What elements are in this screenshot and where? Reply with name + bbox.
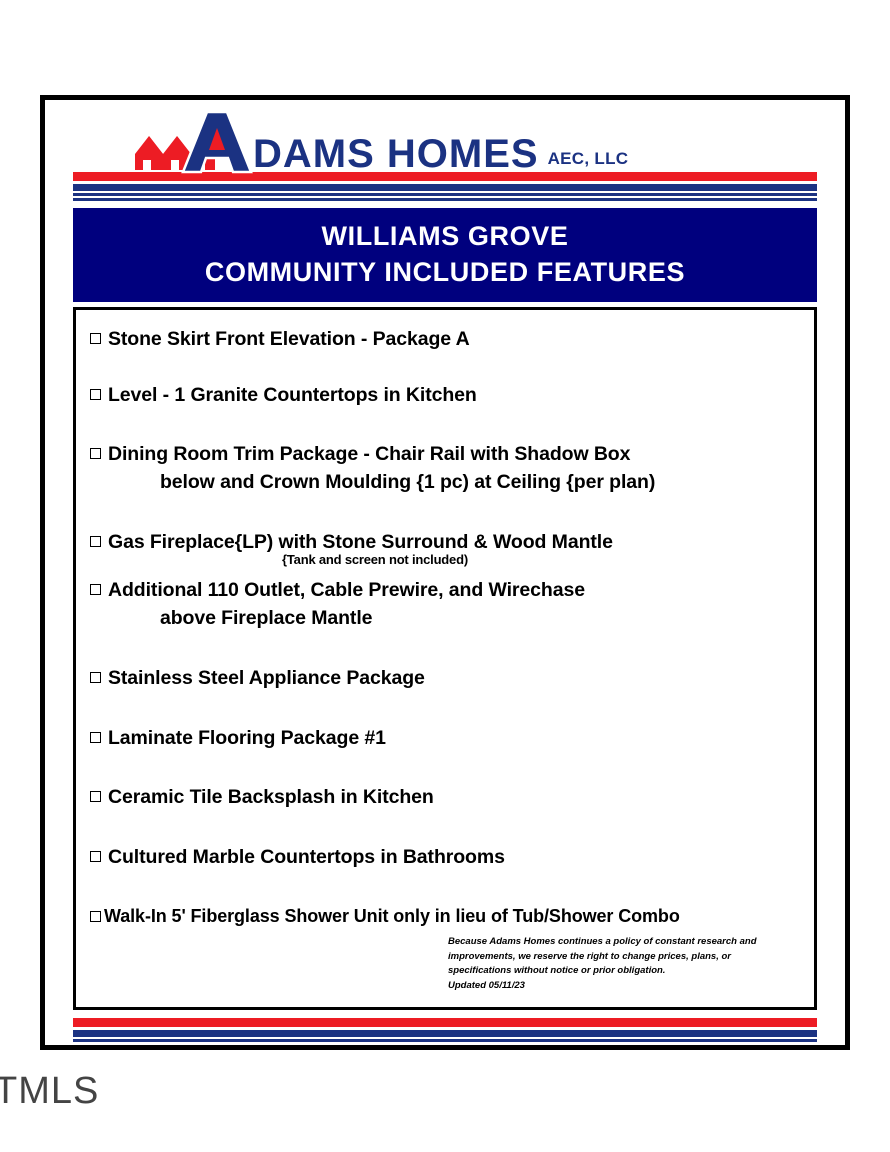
list-item: Stone Skirt Front Elevation - Package A bbox=[90, 326, 800, 354]
disclaimer-body: Because Adams Homes continues a policy o… bbox=[448, 936, 757, 976]
stripe-navy-thick bbox=[73, 1030, 817, 1037]
included-features-box: Stone Skirt Front Elevation - Package A … bbox=[73, 307, 817, 1010]
list-item: Ceramic Tile Backsplash in Kitchen bbox=[90, 784, 800, 812]
feature-line-1: Dining Room Trim Package - Chair Rail wi… bbox=[108, 443, 630, 465]
feature-label: Level - 1 Granite Countertops in Kitchen bbox=[108, 382, 477, 410]
checkbox-icon bbox=[90, 333, 101, 344]
list-item: Walk-In 5' Fiberglass Shower Unit only i… bbox=[90, 904, 800, 930]
disclaimer: Because Adams Homes continues a policy o… bbox=[448, 935, 796, 993]
checkbox-icon bbox=[90, 672, 101, 683]
list-item: Additional 110 Outlet, Cable Prewire, an… bbox=[90, 577, 800, 632]
bottom-stripe-rules bbox=[73, 1018, 817, 1042]
list-item: Laminate Flooring Package #1 bbox=[90, 725, 800, 753]
checkbox-icon bbox=[90, 389, 101, 400]
community-title-banner: WILLIAMS GROVE COMMUNITY INCLUDED FEATUR… bbox=[73, 208, 817, 302]
adams-homes-logo: DAMS HOMES AEC, LLC bbox=[133, 112, 628, 174]
feature-label: Stone Skirt Front Elevation - Package A bbox=[108, 326, 470, 354]
feature-label: Walk-In 5' Fiberglass Shower Unit only i… bbox=[104, 904, 680, 930]
logo-band: DAMS HOMES AEC, LLC bbox=[45, 100, 845, 210]
community-name: WILLIAMS GROVE bbox=[322, 219, 569, 255]
checkbox-icon bbox=[90, 536, 101, 547]
letter-a-mark bbox=[181, 110, 253, 174]
feature-line-1: Additional 110 Outlet, Cable Prewire, an… bbox=[108, 579, 585, 601]
feature-label: Ceramic Tile Backsplash in Kitchen bbox=[108, 784, 434, 812]
list-item: Dining Room Trim Package - Chair Rail wi… bbox=[90, 441, 800, 496]
top-stripe-rules bbox=[73, 172, 817, 201]
checkbox-icon bbox=[90, 732, 101, 743]
list-item: Cultured Marble Countertops in Bathrooms bbox=[90, 844, 800, 872]
checkbox-icon bbox=[90, 851, 101, 862]
stripe-navy-thick bbox=[73, 184, 817, 191]
stripe-navy-thin bbox=[73, 198, 817, 201]
logo-wordmark: DAMS HOMES bbox=[253, 136, 539, 173]
feature-label: Dining Room Trim Package - Chair Rail wi… bbox=[108, 441, 655, 496]
disclaimer-updated-date: Updated 05/11/23 bbox=[448, 979, 796, 993]
feature-line-2: below and Crown Moulding {1 pc) at Ceili… bbox=[108, 469, 655, 497]
feature-label: Additional 110 Outlet, Cable Prewire, an… bbox=[108, 577, 585, 632]
stripe-navy-thin bbox=[73, 1039, 817, 1042]
stripe-red bbox=[73, 1018, 817, 1027]
banner-subtitle: COMMUNITY INCLUDED FEATURES bbox=[205, 255, 685, 291]
checkbox-icon bbox=[90, 584, 101, 595]
checkbox-icon bbox=[90, 791, 101, 802]
feature-label: Stainless Steel Appliance Package bbox=[108, 665, 425, 693]
checkbox-icon bbox=[90, 911, 101, 922]
feature-line-2: above Fireplace Mantle bbox=[108, 605, 585, 633]
logo-suffix: AEC, LLC bbox=[548, 149, 629, 169]
feature-label: Cultured Marble Countertops in Bathrooms bbox=[108, 844, 505, 872]
checkbox-icon bbox=[90, 448, 101, 459]
list-item: Stainless Steel Appliance Package bbox=[90, 665, 800, 693]
list-item: Level - 1 Granite Countertops in Kitchen bbox=[90, 382, 800, 410]
tmls-watermark: TMLS bbox=[0, 1070, 99, 1113]
feature-label: Laminate Flooring Package #1 bbox=[108, 725, 386, 753]
flyer-page: DAMS HOMES AEC, LLC WILLIAMS GROVE COMMU… bbox=[40, 95, 850, 1050]
